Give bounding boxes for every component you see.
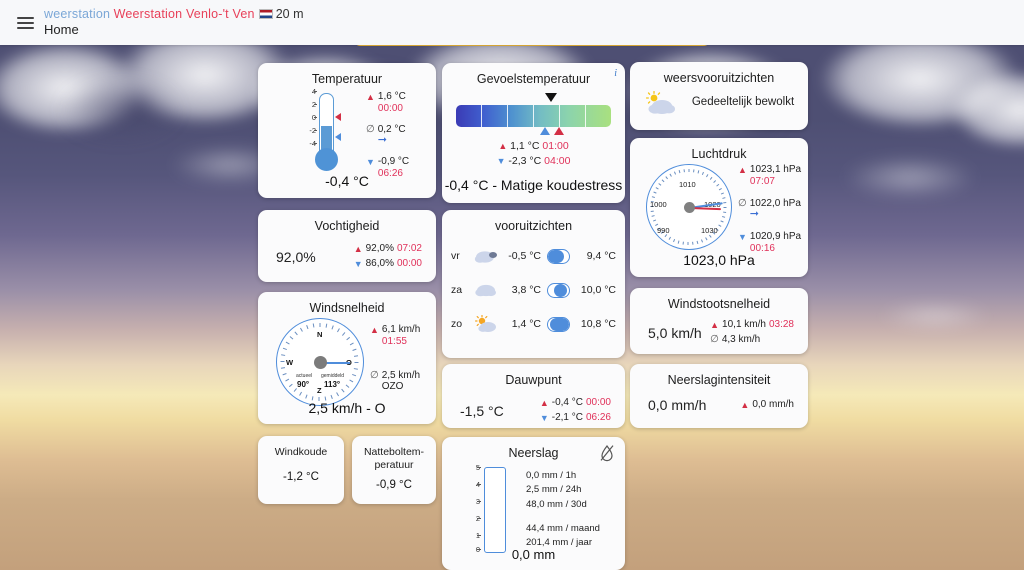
card-pressure[interactable]: Luchtdruk 1000 1010 1020 1030 990 ▲ 1023… [630,138,808,277]
stat-min: ▼ -2,1 °C 06:26 [540,412,611,424]
precip-24h: 2,5 mm / 24h [526,483,600,497]
gauge-scale-label: 1030 [701,226,718,235]
netherlands-flag-icon [259,9,273,19]
thermometer-graphic: 4 2 0 -2 -4 [294,91,374,171]
stat-avg: ∅ 4,3 km/h [710,334,794,346]
card-wind-speed[interactable]: Windsnelheid N O Z W actueel gemiddeld 9… [258,292,436,424]
card-title: Dauwpunt [442,364,625,387]
stat-max: ▲ 92,0% 07:02 [354,243,422,255]
card-title: Windkoude [258,436,344,459]
card-dew-point[interactable]: Dauwpunt -1,5 °C ▲ -0,4 °C 00:00 ▼ -2,1 … [442,364,625,428]
max-marker [554,127,564,135]
triangle-down-icon: ▼ [738,231,747,243]
card-title: Gevoelstemperatuur [442,63,625,86]
cloud-icon [473,248,499,264]
forecast-day: zo [451,318,467,330]
gauge-scale-label: 990 [657,226,670,235]
current-value: -1,5 °C [460,403,504,419]
app-header: weerstation Weerstation Venlo-'t Ven20 m… [0,0,1024,45]
triangle-down-icon: ▼ [540,412,549,424]
forecast-low: 3,8 °C [505,284,541,296]
page-title: Home [44,22,303,39]
gauge-scale-label: 1010 [679,180,696,189]
average-icon: ∅ [366,124,375,136]
current-value: 0,0 mm [442,547,625,562]
no-rain-droplet-icon [599,444,615,462]
forecast-day: za [451,284,467,296]
stat-max: ▲ 10,1 km/h 03:28 [710,319,794,331]
current-value: -0,9 °C [352,471,436,491]
average-icon: ∅ [370,370,379,382]
precip-30d: 48,0 mm / 30d [526,498,600,512]
compass-average-value: 113° [324,380,340,389]
max-marker [335,113,341,121]
triangle-down-icon: ▼ [366,156,375,168]
min-marker [540,127,550,135]
card-feels-like[interactable]: i Gevoelstemperatuur ▲ 1,1 °C 01:00 ▼ -2… [442,63,625,203]
card-title: Luchtdruk [630,138,808,161]
average-icon: ∅ [710,334,719,346]
stat-max: ▲ 1023,1 hPa 07:07 [738,164,812,188]
current-value: -1,2 °C [258,459,344,483]
triangle-up-icon: ▲ [740,399,749,411]
forecast-row: za 3,8 °C 10,0 °C [442,273,625,307]
compass-average-label: gemiddeld [321,373,344,379]
stat-avg: ∅ 2,5 km/h OZO [370,370,436,394]
card-title-line1: Natteboltem- [364,446,424,458]
forecast-low: -0,5 °C [505,250,541,262]
forecast-day: vr [451,250,467,262]
stat-max: ▲ 6,1 km/h 01:55 [370,324,436,348]
forecast-range-bar [547,249,570,264]
triangle-up-icon: ▲ [498,141,507,151]
cloud-icon [473,282,499,298]
current-value: 2,5 km/h - O [258,400,436,416]
current-marker [545,93,557,102]
card-title: Vochtigheid [258,210,436,233]
trend-arrow-icon: ➞ [750,208,759,220]
card-title: Temperatuur [258,63,436,86]
forecast-range-bar [547,317,570,332]
card-title: Neerslagintensiteit [630,364,808,387]
forecast-row: zo 1,4 °C 10,8 °C [442,307,625,341]
compass-north-label: N [317,330,322,339]
card-title-line2: peratuur [374,459,413,471]
stat-max: ▲ 1,6 °C 00:00 [366,91,436,115]
stat-max: ▲ 0,0 mm/h [740,399,794,411]
info-icon[interactable]: i [614,68,617,79]
stat-max: ▲ 1,1 °C 01:00 [442,139,625,154]
gauge-scale-label: 1000 [650,200,667,209]
comfort-gradient-bar [456,105,611,127]
card-precipitation[interactable]: Neerslag 5 4 3 2 1 0 0,0 mm / 1h 2,5 mm … [442,437,625,570]
current-value: 0,0 mm/h [648,397,706,413]
triangle-up-icon: ▲ [540,397,549,409]
stat-min: ▼ -2,3 °C 04:00 [442,154,625,169]
card-title: Windstootsnelheid [630,288,808,311]
summary-value: -0,4 °C - Matige koudestress [442,177,625,193]
wind-compass: N O Z W actueel gemiddeld 90° 113° [276,318,364,406]
card-rain-rate[interactable]: Neerslagintensiteit 0,0 mm/h ▲ 0,0 mm/h [630,364,808,428]
forecast-high: 10,0 °C [576,284,616,296]
current-value: 5,0 km/h [648,325,702,341]
pressure-gauge: 1000 1010 1020 1030 990 [646,164,732,250]
triangle-up-icon: ▲ [370,324,379,336]
triangle-down-icon: ▼ [354,258,363,270]
sun-behind-cloud-icon [473,315,499,333]
triangle-down-icon: ▼ [497,156,506,166]
brand-label: weerstation [44,7,110,21]
forecast-range-bar [547,283,570,298]
card-wind-gust[interactable]: Windstootsnelheid 5,0 km/h ▲ 10,1 km/h 0… [630,288,808,354]
compass-actual-label: actueel [296,373,312,379]
triangle-up-icon: ▲ [710,319,719,331]
card-wind-chill[interactable]: Windkoude -1,2 °C [258,436,344,504]
sun-behind-cloud-icon [644,91,678,113]
hamburger-menu-icon[interactable] [6,17,44,29]
card-title: weersvooruitzichten [630,62,808,85]
triangle-up-icon: ▲ [738,164,747,176]
forecast-low: 1,4 °C [505,318,541,330]
card-wet-bulb[interactable]: Natteboltem- peratuur -0,9 °C [352,436,436,504]
stat-avg: ∅ 0,2 °C ➞ [366,124,436,148]
stat-avg: ∅ 1022,0 hPa ➞ [738,198,812,222]
card-title: Windsnelheid [258,292,436,315]
precip-1h: 0,0 mm / 1h [526,469,600,483]
current-value: -0,4 °C [258,173,436,189]
card-forecast[interactable]: vooruitzichten vr -0,5 °C 9,4 °C za 3,8 … [442,210,625,358]
altitude-label: 20 m [276,7,304,21]
card-title: Neerslag [442,437,625,460]
stat-min: ▼ 86,0% 00:00 [354,258,422,270]
station-name: Weerstation Venlo-'t Ven [114,7,255,21]
dashboard-grid: Temperatuur 4 2 0 -2 -4 ▲ 1,6 °C [0,0,1024,570]
current-value: 92,0% [276,249,316,265]
compass-south-label: Z [317,386,322,395]
min-marker [335,133,341,141]
trend-arrow-icon: ➞ [378,134,387,146]
compass-actual-value: 90° [297,380,309,389]
average-icon: ∅ [738,198,747,210]
precip-month: 44,4 mm / maand [526,522,600,536]
triangle-up-icon: ▲ [354,243,363,255]
forecast-high: 9,4 °C [576,250,616,262]
card-weather-outlook[interactable]: weersvooruitzichten [630,62,808,130]
precipitation-gauge: 5 4 3 2 1 0 [466,467,514,553]
current-value: 1023,0 hPa [630,252,808,268]
forecast-high: 10,8 °C [576,318,616,330]
forecast-row: vr -0,5 °C 9,4 °C [442,239,625,273]
stat-max: ▲ -0,4 °C 00:00 [540,397,611,409]
card-title: vooruitzichten [442,210,625,239]
card-temperature[interactable]: Temperatuur 4 2 0 -2 -4 ▲ 1,6 °C [258,63,436,198]
triangle-up-icon: ▲ [366,91,375,103]
outlook-text: Gedeeltelijk bewolkt [688,96,798,108]
compass-west-label: W [286,358,293,367]
card-humidity[interactable]: Vochtigheid 92,0% ▲ 92,0% 07:02 ▼ 86,0% … [258,210,436,282]
